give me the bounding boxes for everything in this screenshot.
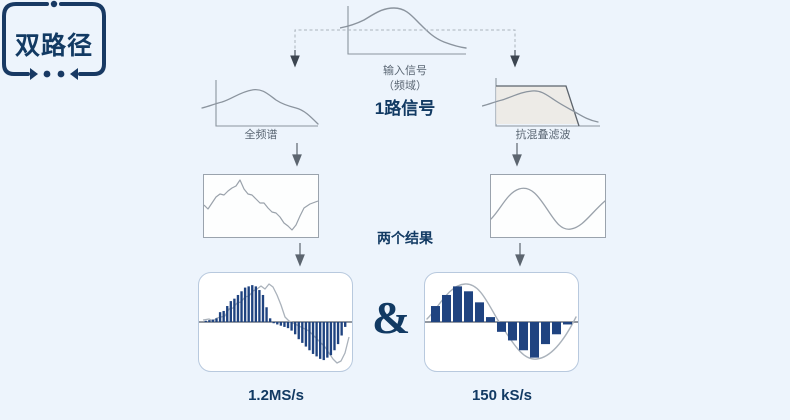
arrow-down-icon — [293, 143, 301, 165]
bar — [442, 295, 451, 322]
source-label-line2: （频域） — [335, 79, 475, 93]
arrow-down-icon — [511, 50, 519, 66]
sampled-high-rate-chart — [199, 273, 352, 371]
bar — [301, 322, 303, 343]
bar — [305, 322, 307, 347]
branch-label-antialias: 抗混叠滤波 — [483, 128, 603, 142]
bar — [287, 322, 289, 328]
bar — [283, 322, 285, 327]
bar — [276, 322, 278, 324]
arrow-down-icon — [291, 50, 299, 66]
bar — [251, 285, 253, 322]
source-count-label: 1路信号 — [335, 99, 475, 119]
arrow-noisy-down — [291, 243, 309, 267]
bar — [552, 322, 561, 334]
bar — [208, 320, 210, 322]
bar — [541, 322, 550, 344]
bar — [431, 306, 440, 322]
bar — [215, 318, 217, 322]
bar — [486, 317, 495, 322]
sampled-high-rate-panel — [198, 272, 353, 372]
bar — [308, 322, 310, 350]
bar — [337, 322, 339, 344]
bar — [326, 322, 328, 358]
time-domain-noisy-trace — [204, 180, 318, 230]
split-connector-line — [295, 30, 515, 54]
time-domain-sine-box — [490, 174, 606, 238]
bar — [219, 312, 221, 322]
bar — [497, 322, 506, 332]
time-domain-noisy-box — [203, 174, 319, 238]
arrow-down-icon — [513, 143, 521, 165]
sampled-low-rate-panel — [424, 272, 579, 372]
bar — [323, 322, 325, 360]
split-connector — [280, 26, 530, 74]
bar — [563, 322, 572, 324]
dot-icon — [51, 1, 57, 7]
bar — [262, 295, 264, 322]
bar — [273, 322, 275, 323]
arrow-right-icon — [30, 68, 38, 80]
arrow-antialias-down — [508, 143, 526, 167]
bar — [233, 299, 235, 322]
antialias-filter-chart — [482, 78, 602, 134]
bar — [530, 322, 539, 358]
bar — [258, 290, 260, 322]
bar — [508, 322, 517, 340]
bar — [222, 311, 224, 322]
full-spectrum-chart — [200, 78, 320, 134]
diagram-canvas: 输入信号 （频域） 1路信号 全频谱 — [0, 0, 790, 420]
bar — [255, 286, 257, 322]
arrow-full-spectrum-down — [288, 143, 306, 167]
bar — [290, 322, 292, 331]
bar — [230, 301, 232, 322]
bar — [298, 322, 300, 339]
bar — [333, 322, 335, 350]
bar — [464, 291, 473, 322]
badge-label: 双路径 — [0, 26, 108, 62]
bar — [205, 321, 207, 322]
bar — [319, 322, 321, 359]
bar — [315, 322, 317, 356]
rate-label-low: 150 kS/s — [431, 387, 573, 405]
branch-label-full-spectrum: 全频谱 — [206, 128, 316, 142]
dual-path-badge: 双路径 — [0, 0, 108, 86]
arrow-down-icon — [296, 243, 304, 265]
bar — [344, 322, 346, 327]
arrow-down-icon — [516, 243, 524, 265]
bar — [519, 322, 528, 350]
bar — [340, 322, 342, 336]
bar — [280, 322, 282, 326]
bar — [226, 306, 228, 322]
arrow-sine-down — [511, 243, 529, 267]
rate-label-high: 1.2MS/s — [205, 387, 347, 405]
bar — [294, 322, 296, 334]
full-spectrum-trace — [202, 90, 318, 124]
ampersand-separator: & — [372, 295, 410, 341]
axis-lines — [216, 80, 318, 126]
result-label: 两个结果 — [335, 229, 475, 247]
bar — [237, 295, 239, 322]
bar — [453, 286, 462, 322]
dot-icon — [44, 71, 51, 78]
arrow-left-icon — [70, 68, 78, 80]
bar — [330, 322, 332, 355]
bar — [312, 322, 314, 354]
dot-icon — [58, 71, 65, 78]
bar — [269, 318, 271, 322]
sampled-low-rate-chart — [425, 273, 578, 371]
bar — [248, 286, 250, 322]
time-domain-sine-trace — [491, 188, 605, 229]
bar — [475, 302, 484, 322]
bar — [265, 307, 267, 322]
bar — [212, 320, 214, 322]
bar — [244, 288, 246, 322]
bar — [240, 291, 242, 322]
